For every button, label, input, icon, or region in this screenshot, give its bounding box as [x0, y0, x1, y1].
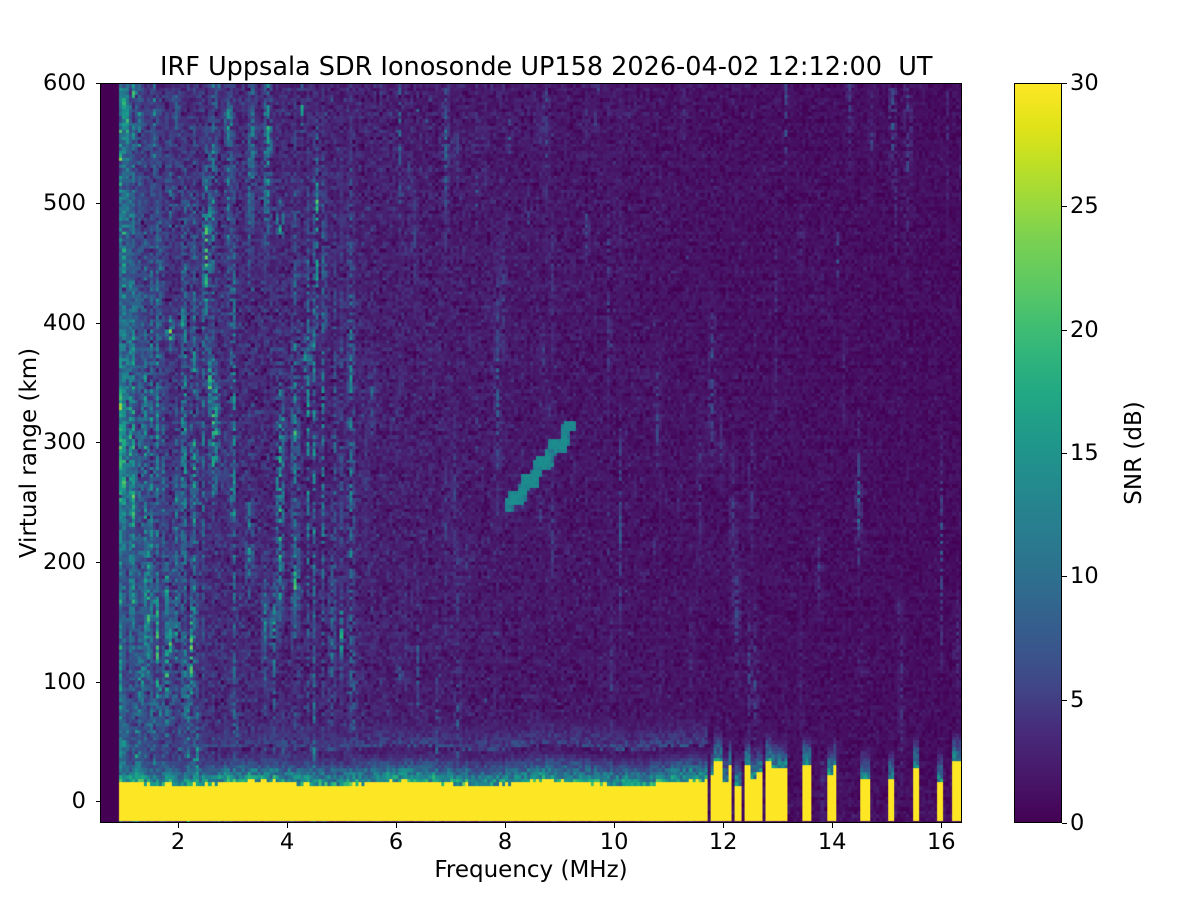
colorbar-title: SNR (dB) [1120, 83, 1148, 823]
colorbar-tick [1062, 83, 1067, 84]
x-tick [614, 823, 615, 828]
colorbar-tick [1062, 453, 1067, 454]
colorbar-tick [1062, 700, 1067, 701]
x-tick-label: 8 [465, 829, 545, 855]
y-tick [96, 562, 101, 563]
y-axis-title: Virtual range (km) [14, 83, 44, 823]
colorbar-tick [1062, 576, 1067, 577]
x-axis-title: Frequency (MHz) [100, 857, 962, 883]
x-tick [287, 823, 288, 828]
x-tick [832, 823, 833, 828]
x-tick-label: 10 [574, 829, 654, 855]
x-tick-label: 12 [683, 829, 763, 855]
x-tick-label: 6 [356, 829, 436, 855]
x-tick [723, 823, 724, 828]
y-tick [96, 801, 101, 802]
y-tick [96, 682, 101, 683]
y-tick [96, 83, 101, 84]
y-tick [96, 442, 101, 443]
x-tick [178, 823, 179, 828]
x-tick [396, 823, 397, 828]
x-tick-label: 4 [247, 829, 327, 855]
ionogram-plot-area[interactable] [100, 83, 962, 823]
y-tick [96, 323, 101, 324]
ionogram-figure: IRF Uppsala SDR Ionosonde UP158 2026-04-… [0, 0, 1200, 900]
colorbar[interactable] [1014, 83, 1062, 823]
x-tick [505, 823, 506, 828]
x-tick-label: 14 [792, 829, 872, 855]
figure-title-line-1: IRF Uppsala SDR Ionosonde UP158 2026-04-… [160, 52, 932, 82]
x-tick-label: 16 [901, 829, 981, 855]
ionogram-heatmap [101, 84, 961, 822]
colorbar-tick [1062, 823, 1067, 824]
colorbar-tick [1062, 330, 1067, 331]
y-tick [96, 203, 101, 204]
colorbar-tick [1062, 206, 1067, 207]
x-tick [941, 823, 942, 828]
x-tick-label: 2 [138, 829, 218, 855]
